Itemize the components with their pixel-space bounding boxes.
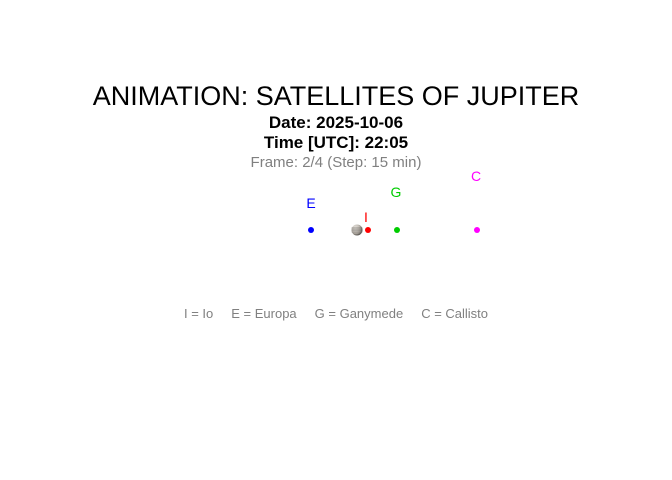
jupiter-band bbox=[352, 230, 363, 231]
legend-entry: E = Europa bbox=[231, 306, 296, 322]
moon-marker-io bbox=[365, 227, 371, 233]
moon-marker-ganymede bbox=[394, 227, 400, 233]
legend-entry: G = Ganymede bbox=[315, 306, 404, 322]
legend-entry: I = Io bbox=[184, 306, 213, 322]
jupiter-planet-icon bbox=[352, 225, 363, 236]
moon-label-europa: E bbox=[306, 196, 315, 210]
moon-label-io: I bbox=[364, 210, 368, 224]
moon-label-callisto: C bbox=[471, 169, 481, 183]
jupiter-band bbox=[352, 228, 363, 229]
moon-marker-callisto bbox=[474, 227, 480, 233]
moon-label-ganymede: G bbox=[391, 185, 402, 199]
animation-canvas: ANIMATION: SATELLITES OF JUPITER Date: 2… bbox=[0, 0, 672, 480]
jupiter-band bbox=[352, 232, 363, 233]
satellite-plot: E I G C bbox=[0, 0, 672, 480]
legend-entry: C = Callisto bbox=[421, 306, 488, 322]
moon-marker-europa bbox=[308, 227, 314, 233]
legend: I = IoE = EuropaG = GanymedeC = Callisto bbox=[0, 306, 672, 322]
